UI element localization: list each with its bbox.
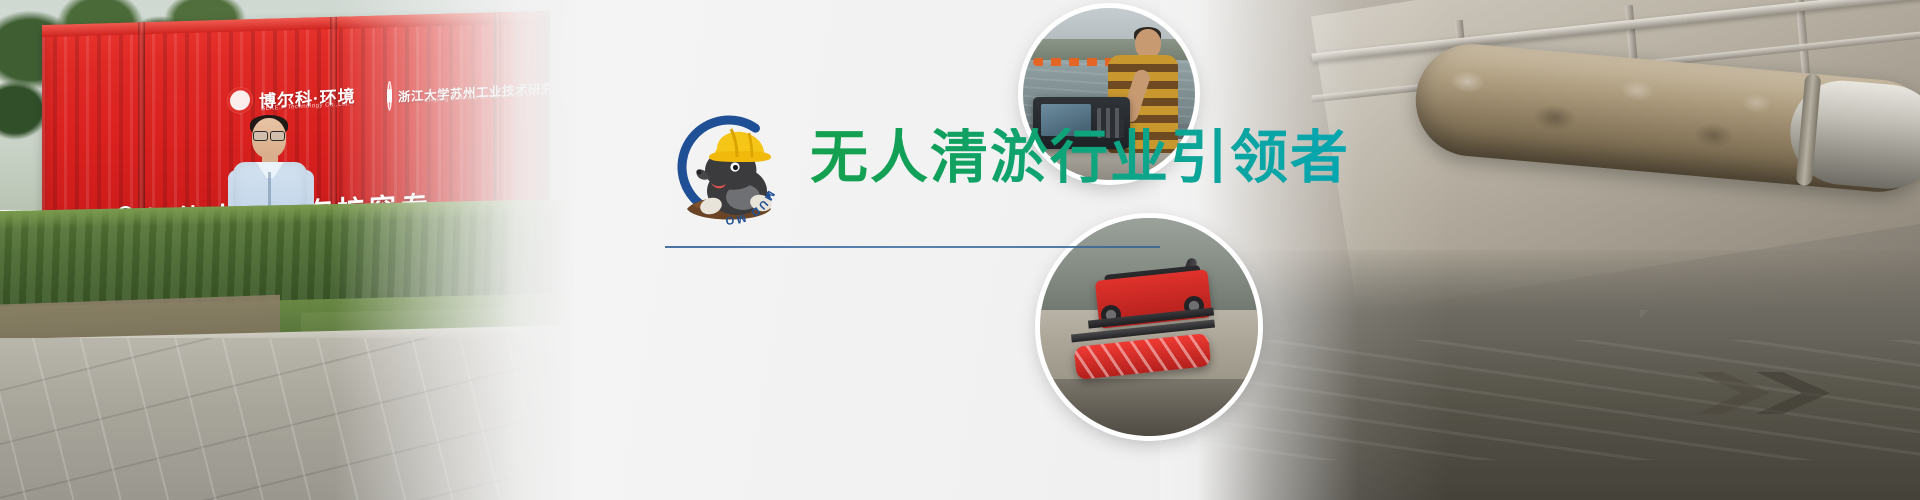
hero-banner: 博尔科·环境 BEKE.P Technology Co.,Ltd. 浙江大学苏州… bbox=[0, 0, 1920, 500]
headline-divider bbox=[665, 246, 1160, 248]
headline-text: 无人清淤行业引领者 bbox=[810, 128, 1350, 186]
right-photo-fade bbox=[1160, 0, 1920, 500]
left-photo: 博尔科·环境 BEKE.P Technology Co.,Ltd. 浙江大学苏州… bbox=[0, 0, 575, 500]
company-logo[interactable]: MUD MOLE bbox=[665, 105, 793, 233]
right-photo bbox=[1160, 0, 1920, 500]
center-content: MUD MOLE 无人清淤行业引领者 bbox=[660, 0, 1220, 500]
left-photo-fade bbox=[0, 0, 575, 500]
